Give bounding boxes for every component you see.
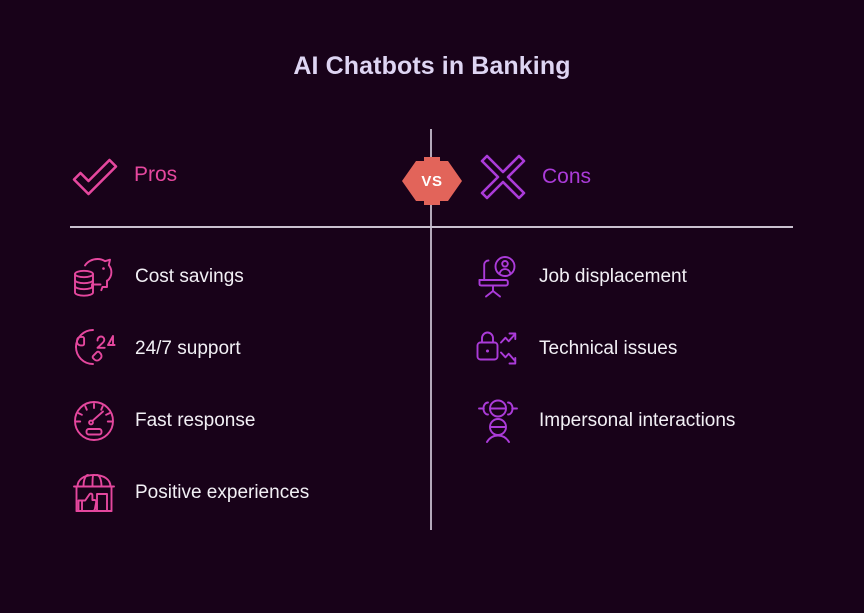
- cons-heading-group: Cons: [478, 152, 591, 202]
- padlock-arrows-icon: [474, 325, 522, 373]
- list-item-label: 24/7 support: [135, 338, 241, 360]
- list-item-label: Technical issues: [539, 338, 677, 360]
- list-item-label: Fast response: [135, 410, 255, 432]
- list-item: Impersonal interactions: [474, 393, 834, 448]
- horizontal-divider: [70, 226, 793, 228]
- office-chair-person-icon: [474, 253, 522, 301]
- cross-x-icon: [478, 152, 528, 202]
- list-item-label: Job displacement: [539, 266, 687, 288]
- list-item: Positive experiences: [70, 465, 410, 520]
- check-icon: [70, 150, 120, 200]
- pros-heading-group: Pros: [70, 150, 177, 200]
- robot-faces-icon: [474, 397, 522, 445]
- vs-badge-label: VS: [400, 155, 464, 207]
- piggy-bank-coins-icon: [70, 253, 118, 301]
- list-item: 24/7 support: [70, 321, 410, 376]
- list-item: Fast response: [70, 393, 410, 448]
- phone-24-support-icon: [70, 325, 118, 373]
- storefront-thumbs-up-icon: [70, 469, 118, 517]
- list-item-label: Cost savings: [135, 266, 244, 288]
- list-item: Cost savings: [70, 249, 410, 304]
- speedometer-icon: [70, 397, 118, 445]
- list-item: Job displacement: [474, 249, 834, 304]
- pros-heading-label: Pros: [134, 163, 177, 187]
- list-item: Technical issues: [474, 321, 834, 376]
- cons-items-column: Job displacement Technical issues: [474, 249, 834, 465]
- list-item-label: Positive experiences: [135, 482, 309, 504]
- infographic-canvas: AI Chatbots in Banking Pros Cons: [0, 0, 864, 613]
- cons-heading-label: Cons: [542, 165, 591, 189]
- vs-badge: VS: [400, 155, 464, 207]
- list-item-label: Impersonal interactions: [539, 410, 735, 432]
- page-title: AI Chatbots in Banking: [0, 52, 864, 81]
- pros-items-column: Cost savings 24/7 support: [70, 249, 410, 537]
